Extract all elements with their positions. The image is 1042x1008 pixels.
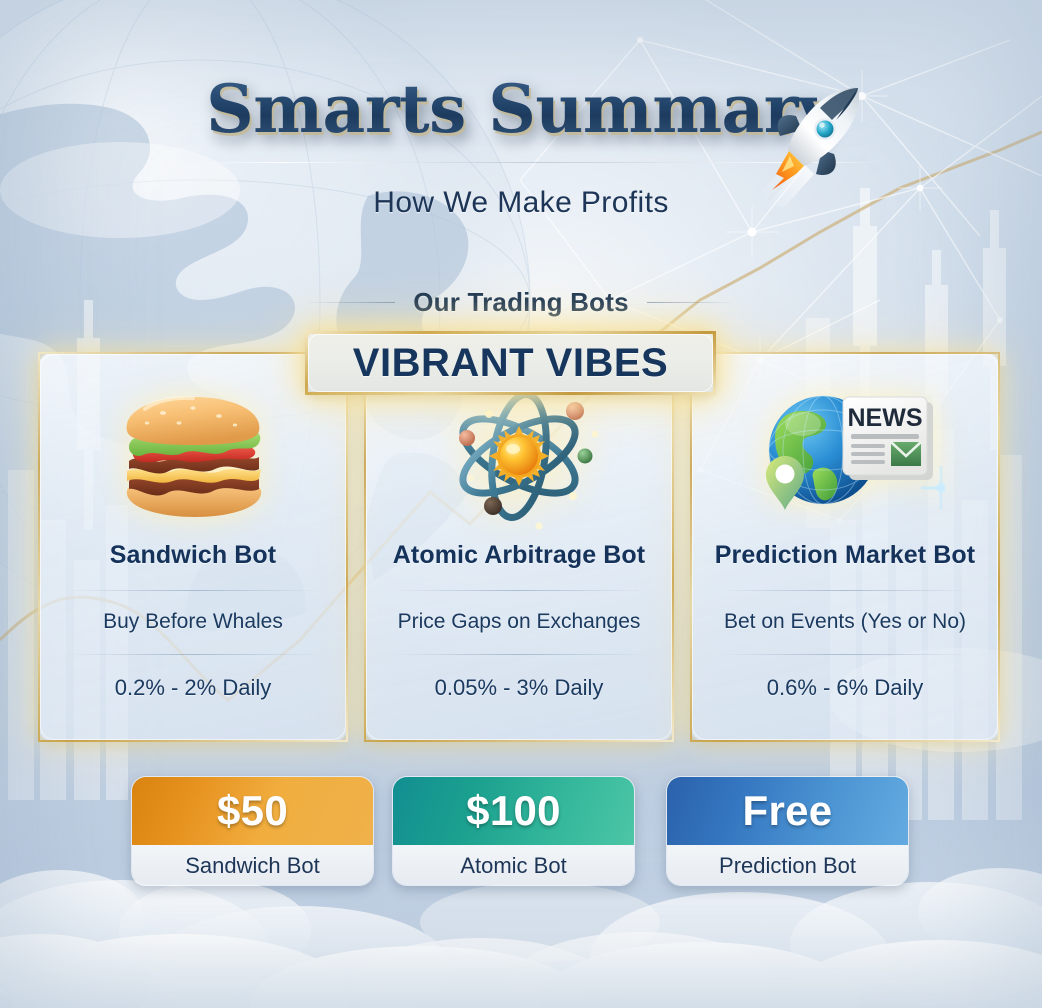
card-icon-slot: NEWS <box>692 368 998 548</box>
card-body: Atomic Arbitrage Bot Price Gaps on Excha… <box>366 542 672 700</box>
bot-card-sandwich[interactable]: Sandwich Bot Buy Before Whales 0.2% - 2%… <box>38 352 348 742</box>
card-divider <box>718 590 972 591</box>
card-divider <box>392 654 646 655</box>
price-amount: $100 <box>466 790 561 832</box>
card-subtitle: Buy Before Whales <box>56 610 330 634</box>
price-bottom-prediction: Prediction Bot <box>667 845 908 886</box>
price-button-prediction[interactable]: Free Prediction Bot <box>666 776 909 886</box>
card-rate: 0.05% - 3% Daily <box>382 675 656 700</box>
price-top-atomic: $100 <box>393 777 634 845</box>
card-subtitle: Price Gaps on Exchanges <box>382 610 656 634</box>
price-bottom-atomic: Atomic Bot <box>393 845 634 886</box>
atom-icon <box>427 378 612 538</box>
card-rate: 0.6% - 6% Daily <box>708 675 982 700</box>
infographic-canvas: Smarts Summary Smarts Summary How We Mak… <box>0 0 1042 1008</box>
card-rate: 0.2% - 2% Daily <box>56 675 330 700</box>
price-label: Sandwich Bot <box>185 855 320 877</box>
card-body: Sandwich Bot Buy Before Whales 0.2% - 2%… <box>40 542 346 700</box>
card-icon-slot <box>40 368 346 548</box>
bot-card-atomic[interactable]: Atomic Arbitrage Bot Price Gaps on Excha… <box>364 352 674 742</box>
card-divider <box>392 590 646 591</box>
section-divider-left <box>307 302 395 303</box>
card-title: Prediction Market Bot <box>708 542 982 570</box>
price-amount: Free <box>743 790 833 832</box>
card-icon-slot <box>366 368 672 548</box>
price-button-atomic[interactable]: $100 Atomic Bot <box>392 776 635 886</box>
price-amount: $50 <box>217 790 288 832</box>
card-title: Atomic Arbitrage Bot <box>382 542 656 570</box>
page-subtitle: How We Make Profits <box>0 186 1042 220</box>
price-label: Prediction Bot <box>719 855 856 877</box>
card-divider <box>66 654 320 655</box>
card-divider <box>718 654 972 655</box>
vibrant-vibes-badge[interactable]: VIBRANT VIBES <box>305 331 716 395</box>
price-top-sandwich: $50 <box>132 777 373 845</box>
price-top-prediction: Free <box>667 777 908 845</box>
card-title: Sandwich Bot <box>56 542 330 570</box>
section-heading: Our Trading Bots <box>0 287 1042 318</box>
sandwich-icon <box>101 383 286 533</box>
page-title-wrapper: Smarts Summary <box>0 76 1042 142</box>
card-body: Prediction Market Bot Bet on Events (Yes… <box>692 542 998 700</box>
price-label: Atomic Bot <box>460 855 566 877</box>
price-bottom-sandwich: Sandwich Bot <box>132 845 373 886</box>
price-button-sandwich[interactable]: $50 Sandwich Bot <box>131 776 374 886</box>
globe-news-icon: NEWS <box>745 378 945 538</box>
bot-card-prediction[interactable]: NEWS <box>690 352 1000 742</box>
bot-cards-row: Sandwich Bot Buy Before Whales 0.2% - 2%… <box>0 352 1042 744</box>
rocket-icon <box>762 78 874 208</box>
card-subtitle: Bet on Events (Yes or No) <box>708 610 982 634</box>
vibrant-vibes-label: VIBRANT VIBES <box>353 343 668 383</box>
card-divider <box>66 590 320 591</box>
section-divider-right <box>647 302 735 303</box>
news-label: NEWS <box>848 404 923 432</box>
price-buttons-row: $50 Sandwich Bot $100 Atomic Bot Free Pr… <box>0 776 1042 896</box>
section-title: Our Trading Bots <box>413 287 629 318</box>
page-title: Smarts Summary <box>206 76 836 142</box>
